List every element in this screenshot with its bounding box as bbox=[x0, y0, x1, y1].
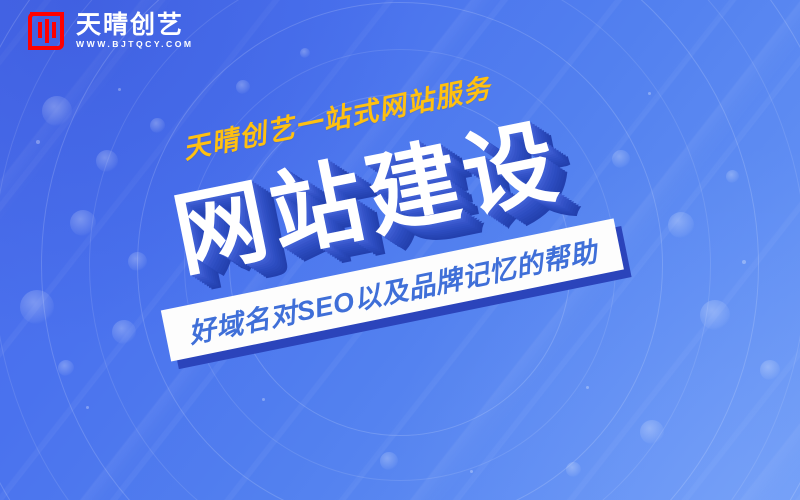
promotional-banner: 天晴创艺 WWW.BJTQCY.COM 天晴创艺一站式网站服务 网站建设 好域名… bbox=[0, 0, 800, 500]
logo-company-name: 天晴创艺 bbox=[76, 13, 194, 38]
logo-url: WWW.BJTQCY.COM bbox=[76, 40, 194, 49]
site-logo[interactable]: 天晴创艺 WWW.BJTQCY.COM bbox=[26, 10, 194, 52]
tianqing-chuangyi-logo-mark-icon bbox=[26, 10, 66, 52]
logo-wordmark: 天晴创艺 WWW.BJTQCY.COM bbox=[76, 13, 194, 49]
headline-group: 天晴创艺一站式网站服务 网站建设 好域名对SEO以及品牌记忆的帮助 bbox=[0, 0, 800, 500]
